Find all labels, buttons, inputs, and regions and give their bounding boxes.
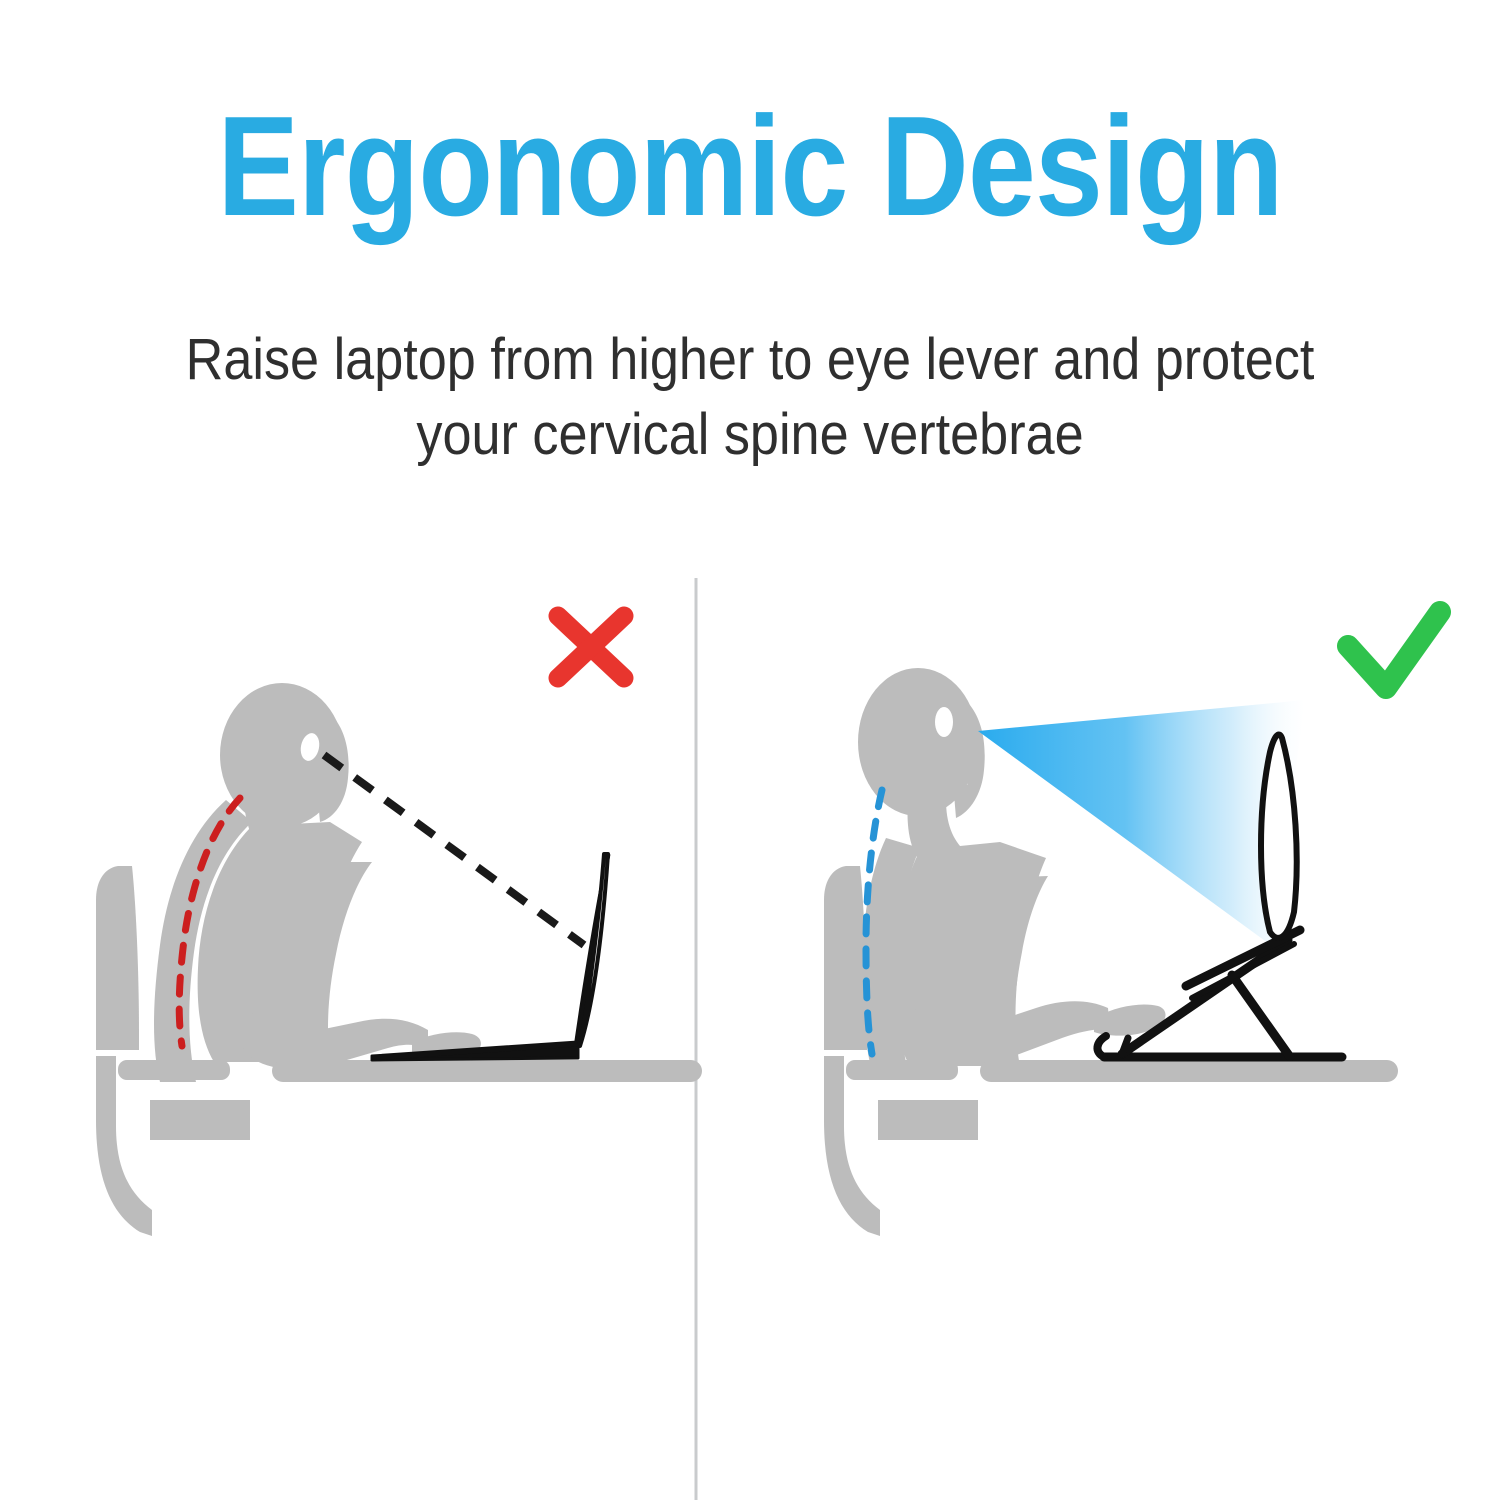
laptop-stand-right <box>1097 940 1342 1057</box>
desk-left <box>272 1060 702 1082</box>
check-icon <box>1348 612 1440 688</box>
cross-icon <box>558 616 624 678</box>
desk-right <box>980 1060 1398 1082</box>
illustration-canvas: Ergonomic Design Raise laptop from highe… <box>0 0 1500 1500</box>
eye-right <box>935 707 953 737</box>
sight-line-left <box>324 755 584 945</box>
left-panel-bad-posture <box>96 616 702 1236</box>
comparison-illustration <box>0 0 1500 1500</box>
right-panel-good-posture <box>824 612 1440 1236</box>
